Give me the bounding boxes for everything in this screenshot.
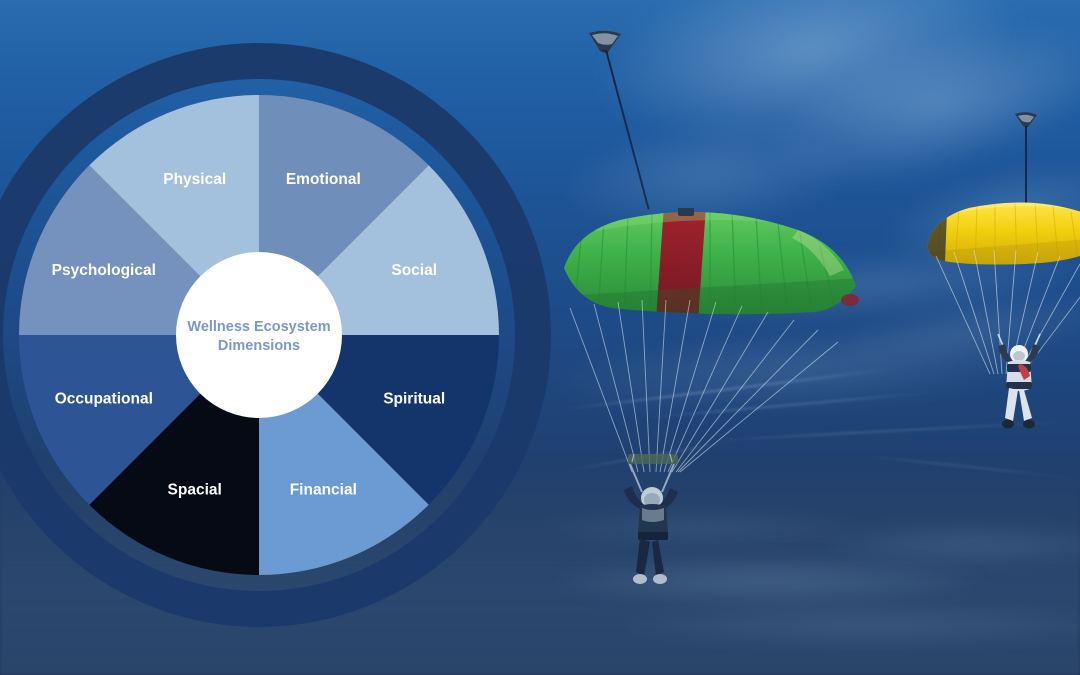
pie-label-occupational: Occupational bbox=[55, 390, 153, 407]
pie-label-emotional: Emotional bbox=[286, 171, 361, 188]
center-label-line1: Wellness Ecosystem bbox=[187, 319, 330, 335]
center-hub bbox=[176, 252, 342, 418]
skydiver-dark-suit bbox=[612, 448, 694, 590]
wellness-wheel-svg: EmotionalSocialSpiritualFinancialSpacial… bbox=[0, 33, 561, 613]
green-parachute-suspension-lines bbox=[560, 300, 880, 480]
pie-label-spiritual: Spiritual bbox=[383, 390, 445, 407]
pie-label-spacial: Spacial bbox=[168, 481, 222, 498]
skydiver-white-suit bbox=[988, 332, 1050, 436]
wellness-ecosystem-wheel: EmotionalSocialSpiritualFinancialSpacial… bbox=[0, 33, 561, 613]
pie-label-physical: Physical bbox=[163, 171, 226, 188]
drogue-bridle-line bbox=[1025, 126, 1027, 208]
center-label-line2: Dimensions bbox=[218, 338, 300, 354]
pie-label-social: Social bbox=[391, 262, 437, 279]
pie-label-psychological: Psychological bbox=[52, 262, 156, 279]
pie-label-financial: Financial bbox=[290, 481, 357, 498]
screenshot-stage: EmotionalSocialSpiritualFinancialSpacial… bbox=[0, 0, 1080, 675]
